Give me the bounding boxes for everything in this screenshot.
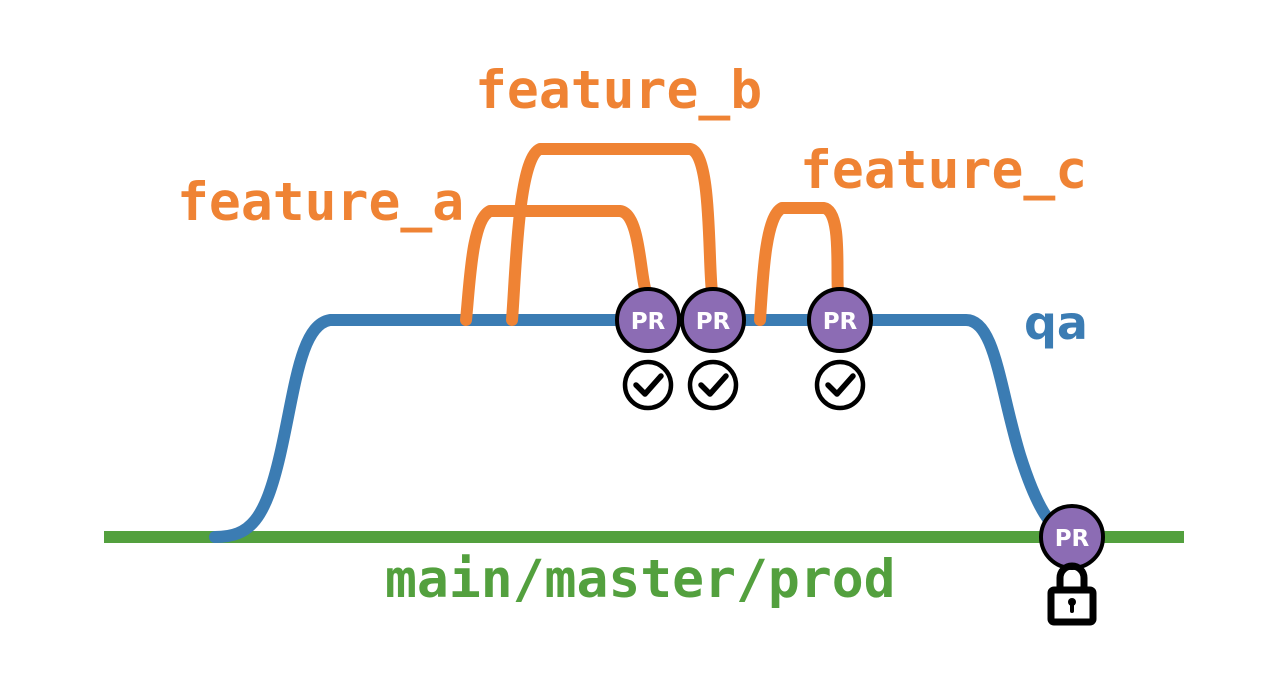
check-circle-ring: [625, 362, 671, 408]
check-circle-ring: [690, 362, 736, 408]
branch-label-feature-c: feature_c: [800, 140, 1087, 201]
lock-icon: [1051, 566, 1093, 622]
check-circle-icon-feature-a: [625, 362, 671, 408]
branch-label-feature-a: feature_a: [177, 172, 464, 233]
pr-node-label: PR: [823, 309, 858, 335]
check-circle-icon-feature-b: [690, 362, 736, 408]
pr-node-label: PR: [1055, 526, 1090, 552]
pr-node-feature-a[interactable]: PR: [617, 289, 679, 351]
branch-label-qa: qa: [1024, 296, 1088, 350]
branch-line-feature-b: [512, 149, 712, 320]
pr-node-label: PR: [631, 309, 666, 335]
pr-node-feature-c[interactable]: PR: [809, 289, 871, 351]
pr-node-qa-to-main[interactable]: PR: [1041, 506, 1103, 568]
pr-node-feature-b[interactable]: PR: [682, 289, 744, 351]
git-branching-diagram: PR PR PR PR: [0, 0, 1288, 678]
check-circle-icon-feature-c: [817, 362, 863, 408]
check-circle-ring: [817, 362, 863, 408]
branch-label-main: main/master/prod: [385, 549, 896, 610]
pr-node-label: PR: [696, 309, 731, 335]
git-flow-canvas: PR PR PR PR: [0, 0, 1288, 678]
branch-label-feature-b: feature_b: [475, 60, 762, 121]
branch-line-qa: [215, 320, 1068, 537]
branch-line-feature-a: [466, 211, 646, 320]
